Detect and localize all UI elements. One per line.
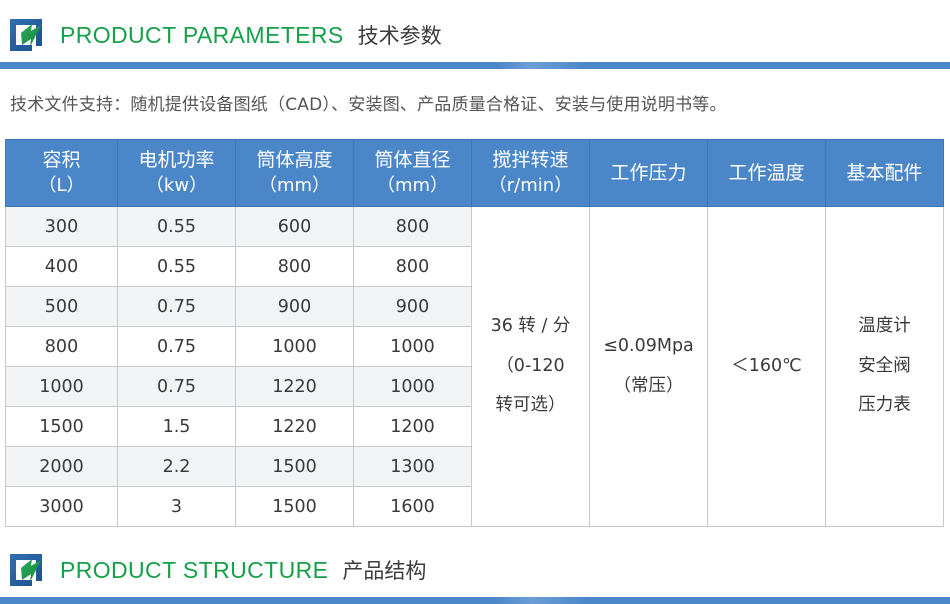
column-header-working-pressure: 工作压力: [590, 140, 708, 207]
column-header-barrel-diameter: 筒体直径 （mm）: [354, 140, 472, 207]
cell-volume: 400: [6, 247, 118, 287]
column-header-barrel-height: 筒体高度 （mm）: [236, 140, 354, 207]
table-row: 300 0.55 600 800 36 转 / 分 （0-120 转可选） ≤0…: [6, 207, 944, 247]
cell-barrel-diameter: 1600: [354, 487, 472, 527]
cell-barrel-diameter: 900: [354, 287, 472, 327]
cell-volume: 1000: [6, 367, 118, 407]
working-pressure-line-2: （常压）: [592, 367, 705, 406]
column-header-basic-accessories: 基本配件: [826, 140, 944, 207]
cell-basic-accessories-merged: 温度计 安全阀 压力表: [826, 207, 944, 527]
stirring-speed-line-2: （0-120: [474, 347, 587, 386]
cell-motor-power: 0.55: [118, 247, 236, 287]
cell-motor-power: 0.75: [118, 367, 236, 407]
basic-accessories-line-1: 温度计: [828, 307, 941, 346]
product-parameters-page: PRODUCT PARAMETERS 技术参数 技术文件支持：随机提供设备图纸（…: [0, 0, 950, 601]
column-header-stirring-speed-name: 搅拌转速: [492, 149, 568, 171]
table-header-row: 容积 （L） 电机功率 （kw） 筒体高度 （mm） 筒体直径 （mm）: [6, 140, 944, 207]
working-pressure-line-1: ≤0.09Mpa: [592, 327, 705, 366]
cell-barrel-height: 1500: [236, 447, 354, 487]
cell-barrel-diameter: 800: [354, 207, 472, 247]
specifications-table: 容积 （L） 电机功率 （kw） 筒体高度 （mm） 筒体直径 （mm）: [5, 139, 944, 527]
column-header-stirring-speed: 搅拌转速 （r/min）: [472, 140, 590, 207]
column-header-barrel-height-name: 筒体高度: [256, 149, 332, 171]
cell-stirring-speed-merged: 36 转 / 分 （0-120 转可选）: [472, 207, 590, 527]
column-header-volume-unit: （L）: [8, 174, 115, 199]
column-header-volume: 容积 （L）: [6, 140, 118, 207]
cell-barrel-diameter: 1300: [354, 447, 472, 487]
column-header-basic-accessories-name: 基本配件: [846, 162, 922, 184]
cell-barrel-height: 1000: [236, 327, 354, 367]
column-header-stirring-speed-unit: （r/min）: [474, 174, 587, 199]
cell-motor-power: 0.55: [118, 207, 236, 247]
column-header-motor-power-unit: （kw）: [120, 174, 233, 199]
cell-barrel-height: 1220: [236, 367, 354, 407]
column-header-motor-power: 电机功率 （kw）: [118, 140, 236, 207]
column-header-barrel-diameter-name: 筒体直径: [374, 149, 450, 171]
cell-working-temperature-merged: ＜160℃: [708, 207, 826, 527]
section-title-en: PRODUCT STRUCTURE: [60, 557, 328, 584]
green-lightning-in-blue-square-logo-icon: [8, 551, 46, 589]
column-header-working-temperature-name: 工作温度: [728, 162, 804, 184]
cell-motor-power: 2.2: [118, 447, 236, 487]
cell-volume: 800: [6, 327, 118, 367]
column-header-working-temperature: 工作温度: [708, 140, 826, 207]
cell-volume: 3000: [6, 487, 118, 527]
cell-motor-power: 0.75: [118, 327, 236, 367]
basic-accessories-line-3: 压力表: [828, 386, 941, 425]
cell-barrel-height: 800: [236, 247, 354, 287]
cell-barrel-diameter: 800: [354, 247, 472, 287]
cell-volume: 300: [6, 207, 118, 247]
cell-barrel-height: 1500: [236, 487, 354, 527]
section-header-product-structure: PRODUCT STRUCTURE 产品结构: [0, 545, 950, 595]
column-header-working-pressure-name: 工作压力: [610, 162, 686, 184]
cell-working-pressure-merged: ≤0.09Mpa （常压）: [590, 207, 708, 527]
technical-documents-note: 技术文件支持：随机提供设备图纸（CAD）、安装图、产品质量合格证、安装与使用说明…: [10, 90, 727, 115]
cell-volume: 500: [6, 287, 118, 327]
cell-motor-power: 1.5: [118, 407, 236, 447]
working-temperature-line-1: ＜160℃: [710, 347, 823, 386]
cell-motor-power: 3: [118, 487, 236, 527]
cell-volume: 2000: [6, 447, 118, 487]
cell-barrel-diameter: 1000: [354, 327, 472, 367]
section-divider-rule: [0, 62, 950, 69]
section-title-cn: 产品结构: [342, 555, 426, 585]
stirring-speed-line-1: 36 转 / 分: [474, 307, 587, 346]
cell-barrel-height: 900: [236, 287, 354, 327]
column-header-barrel-height-unit: （mm）: [238, 174, 351, 199]
column-header-barrel-diameter-unit: （mm）: [356, 174, 469, 199]
cell-volume: 1500: [6, 407, 118, 447]
stirring-speed-line-3: 转可选）: [474, 386, 587, 425]
cell-barrel-height: 1220: [236, 407, 354, 447]
cell-barrel-height: 600: [236, 207, 354, 247]
green-lightning-in-blue-square-logo-icon: [8, 16, 46, 54]
basic-accessories-line-2: 安全阀: [828, 347, 941, 386]
section-header-product-parameters: PRODUCT PARAMETERS 技术参数: [0, 10, 950, 60]
column-header-volume-name: 容积: [42, 149, 80, 171]
specifications-table-container: 容积 （L） 电机功率 （kw） 筒体高度 （mm） 筒体直径 （mm）: [5, 139, 943, 527]
cell-barrel-diameter: 1000: [354, 367, 472, 407]
section-title-en: PRODUCT PARAMETERS: [60, 22, 344, 49]
cell-motor-power: 0.75: [118, 287, 236, 327]
cell-barrel-diameter: 1200: [354, 407, 472, 447]
column-header-motor-power-name: 电机功率: [138, 149, 214, 171]
section-title-cn: 技术参数: [358, 20, 442, 50]
